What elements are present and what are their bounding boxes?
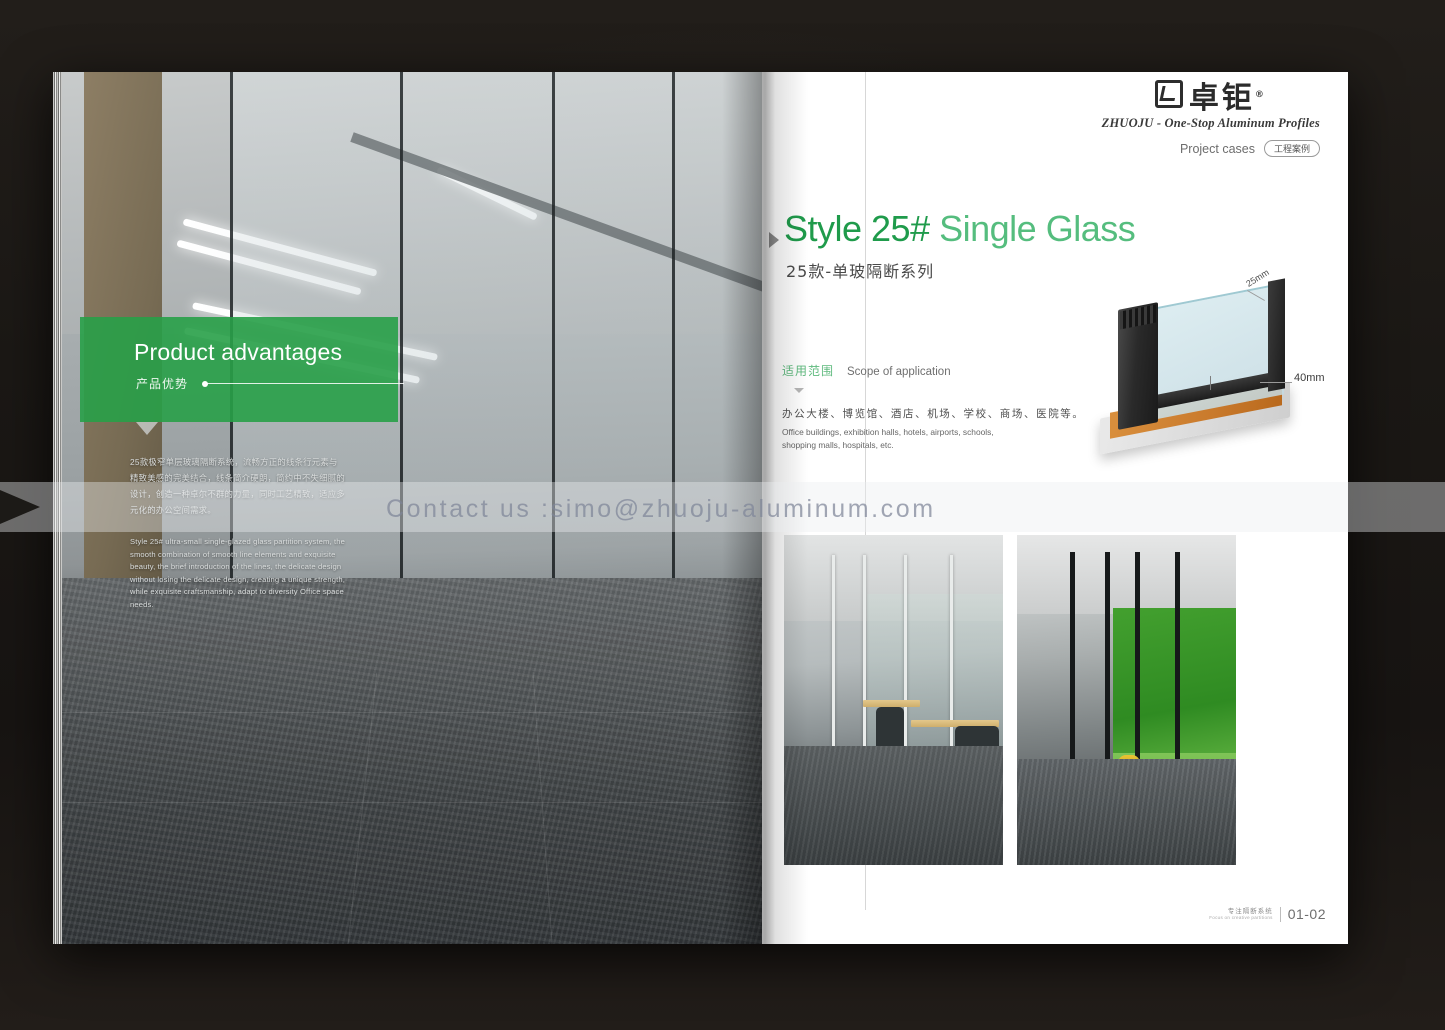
page-footer: 专注隔断系统 Focus on creative partitions 01-0… — [1209, 906, 1326, 922]
title-primary: Style 25# — [784, 208, 930, 249]
zhuoju-logo-icon — [1155, 80, 1183, 108]
carpet-tiles — [62, 578, 762, 944]
photo-desk — [863, 700, 920, 707]
project-cases-label-en: Project cases — [1180, 142, 1255, 156]
title-secondary: Single Glass — [939, 208, 1135, 249]
scope-label-en: Scope of application — [847, 366, 951, 378]
applications-cn: 办公大楼、博览馆、酒店、机场、学校、商场、医院等。 — [782, 406, 1085, 421]
logo-row: 卓钜® — [1102, 80, 1320, 114]
page-number: 01-02 — [1288, 906, 1326, 922]
screenshot-root: Product advantages 产品优势 25款极窄单层玻璃隔断系统，流畅… — [0, 0, 1445, 1030]
dimension-label-width: 40mm — [1294, 372, 1325, 384]
photo-chair — [876, 707, 904, 750]
advantages-title-en: Product advantages — [134, 339, 342, 366]
diagram-tick-mark — [1210, 376, 1211, 390]
page-title: Style 25# Single Glass — [784, 208, 1135, 250]
diagram-right-post — [1268, 278, 1285, 391]
product-diagram: 25mm 40mm — [1082, 272, 1332, 472]
footer-tagline-en: Focus on creative partitions — [1209, 915, 1272, 920]
case-photo-white-frame — [784, 535, 1003, 865]
brand-tagline-en: ZHUOJU - One-Stop Aluminum Profiles — [1102, 116, 1320, 131]
photo-carpet — [1017, 759, 1236, 865]
page-edges-right — [1347, 72, 1360, 944]
case-photo-black-frame — [1017, 535, 1236, 865]
footer-tagline: 专注隔断系统 Focus on creative partitions — [1209, 908, 1272, 921]
carpet-seam — [62, 802, 762, 803]
footer-divider — [1280, 907, 1281, 922]
advantages-title-cn: 产品优势 — [136, 375, 188, 392]
scope-heading-row: 适用范围 Scope of application — [782, 362, 951, 379]
brand-block: 卓钜® ZHUOJU - One-Stop Aluminum Profiles … — [1102, 80, 1320, 157]
advantages-notch-icon — [136, 422, 158, 435]
brand-name-cn: 卓钜® — [1189, 80, 1267, 114]
watermark-arrow-icon — [0, 490, 40, 524]
project-cases-row: Project cases 工程案例 — [1102, 140, 1320, 157]
product-advantages-box: Product advantages 产品优势 — [80, 317, 398, 422]
footer-tagline-cn: 专注隔断系统 — [1209, 908, 1272, 915]
advantages-body-cn: 25款极窄单层玻璃隔断系统，流畅方正的线条行元素与精致美感的完美结合，线条简介硬… — [130, 454, 345, 518]
scope-label-cn: 适用范围 — [782, 362, 834, 379]
watermark-text: Contact us :simo@zhuoju-aluminum.com — [386, 495, 936, 524]
title-arrow-icon — [769, 232, 779, 248]
advantages-body-en: Style 25# ultra-small single-glazed glas… — [130, 536, 348, 612]
carpet-seam — [62, 712, 762, 713]
advantages-underline — [204, 383, 404, 384]
applications-en: Office buildings, exhibition halls, hote… — [782, 426, 1017, 451]
photo-ceiling — [1017, 535, 1236, 614]
registered-mark: ® — [1255, 90, 1267, 100]
chevron-down-icon — [794, 388, 804, 393]
photo-carpet — [784, 746, 1003, 865]
diagram-leader-right — [1260, 382, 1292, 383]
page-title-cn: 25款-单玻隔断系列 — [786, 258, 934, 282]
project-cases-badge-cn: 工程案例 — [1264, 140, 1320, 157]
